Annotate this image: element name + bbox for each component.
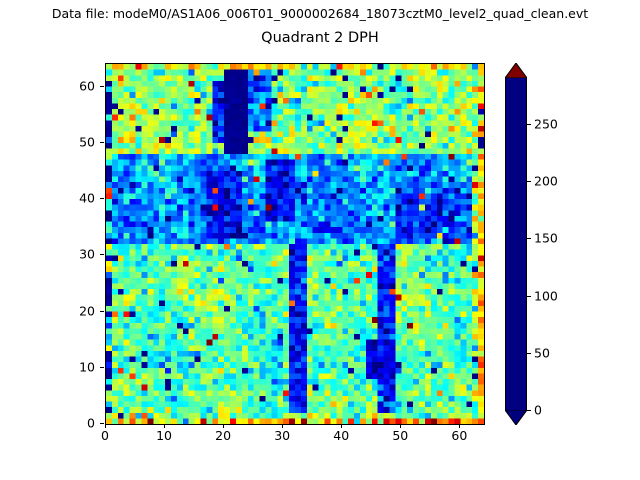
colorbar-tick-mark bbox=[527, 238, 531, 239]
x-tick-label: 10 bbox=[156, 428, 172, 443]
y-tick-mark bbox=[100, 367, 104, 368]
y-tick-mark bbox=[100, 86, 104, 87]
y-tick-label: 30 bbox=[63, 247, 95, 262]
y-tick-label: 40 bbox=[63, 191, 95, 206]
x-tick-label: 30 bbox=[274, 428, 290, 443]
y-tick-mark bbox=[100, 142, 104, 143]
x-tick-label: 60 bbox=[451, 428, 467, 443]
x-tick-label: 20 bbox=[215, 428, 231, 443]
colorbar-tick-label: 50 bbox=[534, 345, 550, 360]
colorbar-gradient bbox=[505, 78, 527, 410]
colorbar-tick-label: 200 bbox=[534, 174, 558, 189]
y-tick-label: 60 bbox=[63, 78, 95, 93]
y-tick-label: 20 bbox=[63, 303, 95, 318]
colorbar-tick-label: 0 bbox=[534, 403, 542, 418]
dph-heatmap-image bbox=[106, 64, 484, 424]
colorbar-tick-label: 150 bbox=[534, 231, 558, 246]
colorbar-tick-mark bbox=[527, 353, 531, 354]
y-tick-mark bbox=[100, 423, 104, 424]
x-tick-label: 50 bbox=[392, 428, 408, 443]
colorbar-extend-max-arrow-icon bbox=[505, 63, 527, 78]
x-tick-label: 40 bbox=[333, 428, 349, 443]
y-tick-mark bbox=[100, 198, 104, 199]
y-tick-label: 0 bbox=[63, 416, 95, 431]
y-tick-mark bbox=[100, 311, 104, 312]
y-tick-mark bbox=[100, 254, 104, 255]
page-title: Quadrant 2 DPH bbox=[0, 30, 640, 46]
colorbar: 050100150200250 bbox=[505, 63, 527, 425]
y-tick-label: 10 bbox=[63, 359, 95, 374]
data-file-suptitle: Data file: modeM0/AS1A06_006T01_90000026… bbox=[0, 6, 640, 21]
matplotlib-figure: Data file: modeM0/AS1A06_006T01_90000026… bbox=[0, 0, 640, 480]
y-tick-label: 50 bbox=[63, 134, 95, 149]
colorbar-tick-mark bbox=[527, 410, 531, 411]
colorbar-tick-label: 250 bbox=[534, 116, 558, 131]
colorbar-tick-mark bbox=[527, 124, 531, 125]
colorbar-tick-mark bbox=[527, 181, 531, 182]
x-tick-label: 0 bbox=[101, 428, 109, 443]
colorbar-tick-mark bbox=[527, 296, 531, 297]
colorbar-tick-label: 100 bbox=[534, 288, 558, 303]
heatmap-axes bbox=[105, 63, 485, 425]
colorbar-extend-min-arrow-icon bbox=[505, 410, 527, 425]
